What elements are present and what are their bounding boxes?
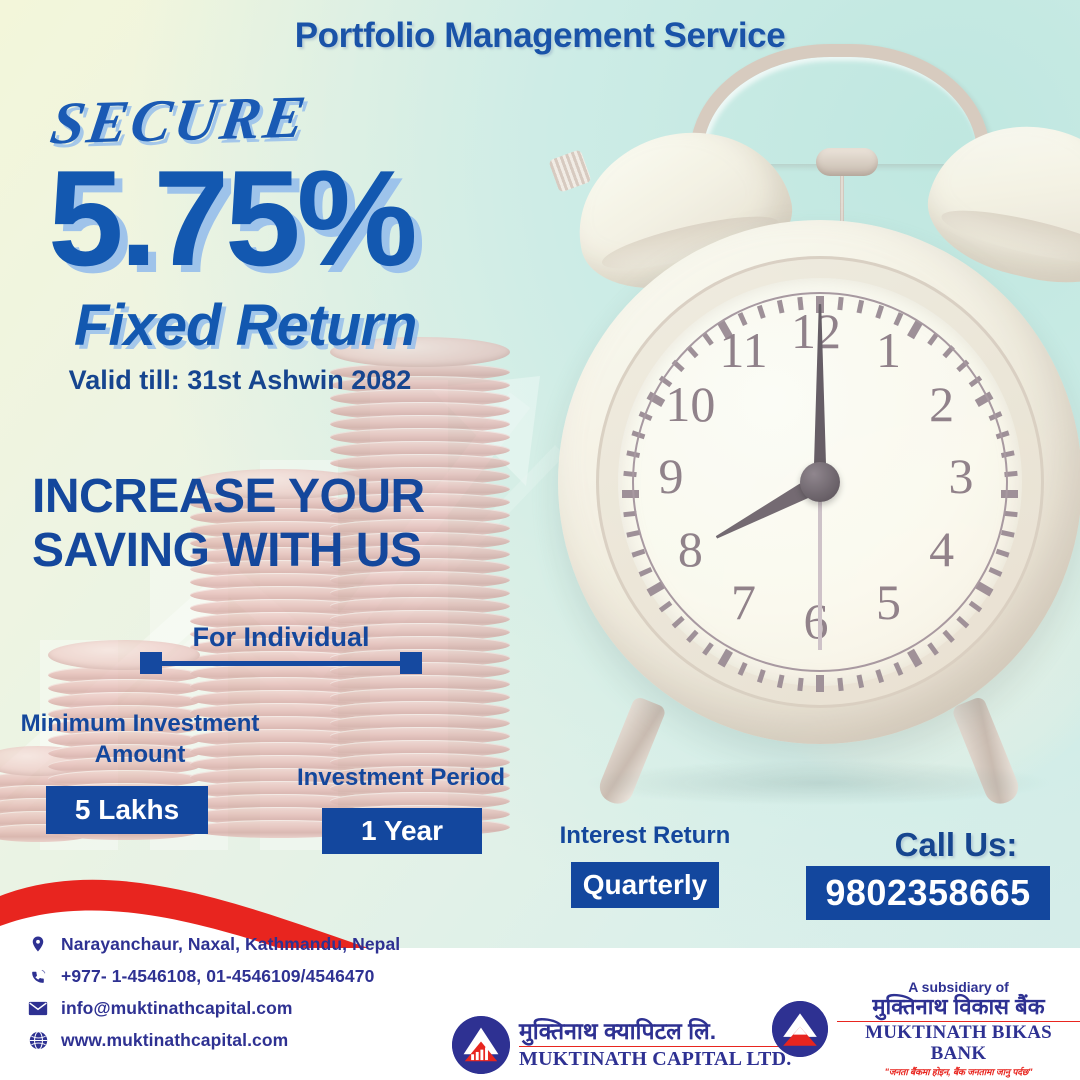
clock-numeral-12: 12 [784, 306, 848, 356]
logo-capital-rule [519, 1046, 791, 1048]
contact-row[interactable]: info@muktinathcapital.com [28, 994, 458, 1022]
clock-tick [756, 669, 765, 683]
location-pin-icon [28, 934, 48, 954]
clock-numeral-6: 6 [784, 596, 848, 646]
logo-bank-tagline: "जनता बैंकमा होइन, बैंक जनतामा जानु पर्द… [837, 1065, 1080, 1078]
clock-numeral-4: 4 [910, 524, 974, 574]
rate-subtitle: Fixed Return [74, 292, 417, 359]
clock-numeral-9: 9 [639, 451, 703, 501]
clock-tick [1000, 530, 1014, 538]
poster-canvas: 121234567891011 Portfolio Management Ser… [0, 0, 1080, 1080]
clock-tick [776, 674, 784, 688]
contact-row-text: Narayanchaur, Naxal, Kathmandu, Nepal [61, 934, 400, 955]
logo-bank-devanagari: मुक्तिनाथ विकास बैंक [837, 995, 1080, 1019]
clock-tick [956, 616, 969, 628]
clock-tick [737, 662, 747, 676]
clock-tick [686, 630, 698, 643]
contact-row[interactable]: www.muktinathcapital.com [28, 1026, 458, 1054]
headline-line-1: INCREASE YOUR [32, 470, 502, 524]
clock-tick [995, 549, 1009, 558]
clock-tick [942, 630, 954, 643]
clock-numeral-7: 7 [712, 577, 776, 627]
segment-label: For Individual [140, 622, 422, 653]
logo-bank-text: A subsidiary of मुक्तिनाथ विकास बैंक MUK… [837, 979, 1080, 1078]
clock-drop-shadow [580, 760, 1060, 806]
validity-text: Valid till: 31st Ashwin 2082 [40, 362, 440, 398]
clock-numeral-1: 1 [857, 325, 921, 375]
globe-icon [28, 1031, 48, 1050]
phone-icon [28, 967, 48, 986]
contact-row[interactable]: +977- 1-4546108, 01-4546109/4546470 [28, 962, 458, 990]
headline: INCREASE YOUR SAVING WITH US [32, 470, 502, 578]
contact-row-text: +977- 1-4546108, 01-4546109/4546470 [61, 966, 374, 987]
logo-muktinath-bikas-bank: A subsidiary of मुक्तिनाथ विकास बैंक MUK… [772, 979, 1080, 1078]
clock-tick [631, 549, 645, 558]
contact-row-text: info@muktinathcapital.com [61, 998, 293, 1019]
clock-tick [718, 649, 733, 668]
clock-tick [658, 601, 671, 613]
clock-tick [1004, 511, 1017, 517]
alarm-clock-illustration: 121234567891011 [540, 8, 1080, 888]
clock-tick [875, 669, 884, 683]
clock-numeral-8: 8 [658, 524, 722, 574]
clock-tick [638, 567, 652, 577]
logo-capital-devanagari: मुक्तिनाथ क्यापिटल लि. [519, 1019, 791, 1045]
clock-tick [816, 675, 824, 692]
contact-block: Narayanchaur, Naxal, Kathmandu, Nepal+97… [28, 930, 458, 1058]
clock-tick [907, 649, 922, 668]
logo-bank-english: MUKTINATH BIKAS BANK [837, 1023, 1080, 1065]
headline-line-2: SAVING WITH US [32, 524, 502, 578]
clock-tick [837, 678, 843, 691]
connector-node-left [140, 652, 162, 674]
logo-muktinath-capital: मुक्तिनाथ क्यापिटल लि. MUKTINATH CAPITAL… [452, 1016, 791, 1074]
page-title: Portfolio Management Service [0, 16, 1080, 56]
clock-tick [988, 567, 1002, 577]
feature-label-minimum-investment: Minimum Investment Amount [10, 708, 270, 770]
logo-capital-text: मुक्तिनाथ क्यापिटल लि. MUKTINATH CAPITAL… [519, 1019, 791, 1071]
envelope-icon [28, 1001, 48, 1016]
clock-bezel: 121234567891011 [596, 256, 1044, 708]
clock-tick [856, 674, 864, 688]
clock-face: 121234567891011 [618, 278, 1022, 686]
clock-numeral-11: 11 [712, 325, 776, 375]
clock-tick [893, 662, 903, 676]
segment-connector [140, 657, 422, 669]
clock-numeral-10: 10 [658, 379, 722, 429]
clock-tick [927, 642, 939, 655]
contact-row[interactable]: Narayanchaur, Naxal, Kathmandu, Nepal [28, 930, 458, 958]
feature-value-minimum-investment: 5 Lakhs [46, 786, 208, 834]
clock-tick [702, 642, 714, 655]
clock-numeral-2: 2 [910, 379, 974, 429]
clock-center-pin [800, 462, 840, 502]
muktinath-mountain-mark-capital [452, 1016, 510, 1074]
feature-label-investment-period: Investment Period [286, 762, 516, 793]
clock-winder-left [548, 149, 592, 193]
muktinath-mountain-mark-bank [772, 1001, 828, 1057]
clock-numeral-3: 3 [929, 451, 993, 501]
logo-capital-english: MUKTINATH CAPITAL LTD. [519, 1048, 791, 1070]
connector-node-right [400, 652, 422, 674]
clock-second-hand [818, 482, 822, 650]
clock-case: 121234567891011 [558, 220, 1080, 744]
contact-row-text: www.muktinathcapital.com [61, 1030, 288, 1051]
clock-tick [968, 601, 981, 613]
connector-line [150, 661, 412, 666]
clock-tick [671, 616, 684, 628]
clock-striker-head [816, 148, 878, 176]
clock-numeral-5: 5 [857, 577, 921, 627]
interest-rate-value: 5.75% [48, 150, 414, 286]
clock-tick [797, 678, 803, 691]
